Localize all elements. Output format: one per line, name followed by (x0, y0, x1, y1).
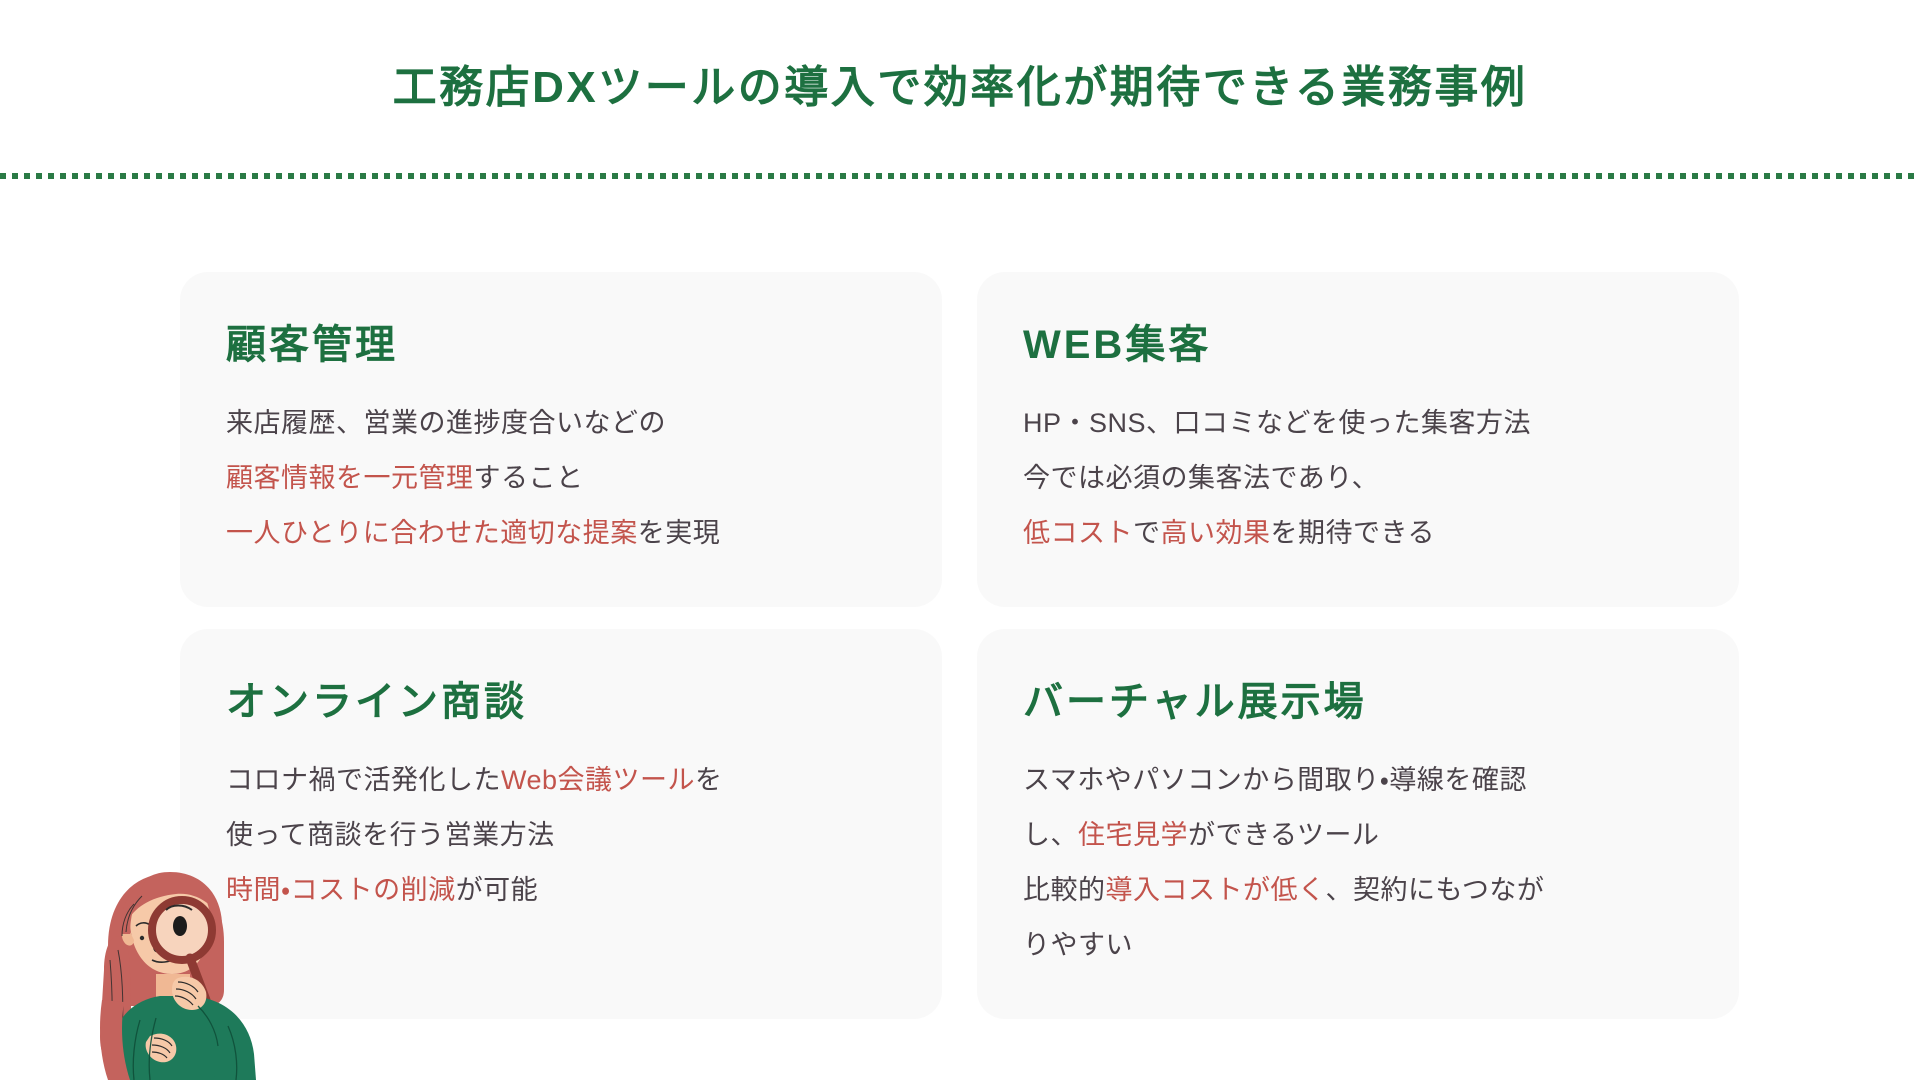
sweater-arm-left (126, 1034, 152, 1080)
text-segment: 来店履歴、営業の進捗度合いなどの (226, 408, 666, 438)
card-body: 来店履歴、営業の進捗度合いなどの 顧客情報を一元管理すること 一人ひとりに合わせ… (226, 396, 896, 561)
text-segment-highlight: 一人ひとりに合わせた適切な提案 (226, 518, 638, 548)
card-web-marketing[interactable]: WEB集客 HP・SNS、口コミなどを使った集客方法 今では必須の集客法であり、… (977, 272, 1739, 607)
text-segment: りやすい (1023, 930, 1133, 960)
text-segment: し、 (1023, 820, 1078, 850)
text-segment: を期待できる (1271, 518, 1435, 548)
hair-detail-lines (110, 896, 142, 1040)
text-segment: コロナ禍で活発化した (226, 765, 501, 795)
text-segment-highlight: 住宅見学 (1078, 820, 1188, 850)
card-body-line: りやすい (1023, 918, 1693, 973)
card-virtual-showroom[interactable]: バーチャル展示場 スマホやパソコンから間取り・導線を確認 し、住宅見学ができるツ… (977, 629, 1739, 1019)
text-segment-highlight: 導入コストが低く (1106, 875, 1326, 905)
card-body-line: スマホやパソコンから間取り・導線を確認 (1023, 753, 1693, 808)
hair-left-strand (100, 936, 132, 1066)
text-segment: を (695, 765, 723, 795)
card-body-line: 顧客情報を一元管理すること (226, 451, 896, 506)
card-title: WEB集客 (1023, 320, 1693, 370)
text-segment: HP・SNS、口コミなどを使った集客方法 (1023, 408, 1531, 438)
eyebrow-left (136, 923, 150, 926)
card-body: コロナ禍で活発化したWeb会議ツールを 使って商談を行う営業方法 時間・コストの… (226, 753, 896, 918)
card-body-line: 来店履歴、営業の進捗度合いなどの (226, 396, 896, 451)
card-body-line: し、住宅見学ができるツール (1023, 808, 1693, 863)
card-row-1: 顧客管理 来店履歴、営業の進捗度合いなどの 顧客情報を一元管理すること 一人ひと… (180, 272, 1742, 607)
text-segment: スマホやパソコンから間取り・導線を確認 (1023, 765, 1527, 795)
card-body-line: 低コストで高い効果を期待できる (1023, 506, 1693, 561)
card-body-line: コロナ禍で活発化したWeb会議ツールを (226, 753, 896, 808)
card-body-line: 今では必須の集客法であり、 (1023, 451, 1693, 506)
nose-shape (154, 942, 159, 952)
card-body: スマホやパソコンから間取り・導線を確認 し、住宅見学ができるツール 比較的導入コ… (1023, 753, 1693, 973)
text-segment: 、契約にもつなが (1326, 875, 1545, 905)
card-customer-management[interactable]: 顧客管理 来店履歴、営業の進捗度合いなどの 顧客情報を一元管理すること 一人ひと… (180, 272, 942, 607)
card-title: 顧客管理 (226, 320, 896, 370)
card-row-2: オンライン商談 コロナ禍で活発化したWeb会議ツールを 使って商談を行う営業方法… (180, 629, 1742, 1019)
text-segment: 今では必須の集客法であり、 (1023, 463, 1379, 493)
text-segment-highlight: Web会議ツール (501, 765, 695, 795)
text-segment: を実現 (638, 518, 721, 548)
hand-left (146, 1034, 177, 1063)
page-title: 工務店DXツールの導入で効率化が期待できる業務事例 (0, 62, 1920, 115)
text-segment: 比較的 (1023, 875, 1106, 905)
card-online-meeting[interactable]: オンライン商談 コロナ禍で活発化したWeb会議ツールを 使って商談を行う営業方法… (180, 629, 942, 1019)
text-segment-highlight: 時間・コストの削減 (226, 875, 456, 905)
mouth-shape (152, 958, 176, 962)
card-body-line: 比較的導入コストが低く、契約にもつなが (1023, 863, 1693, 918)
dotted-divider (0, 173, 1920, 179)
eye-left (140, 936, 144, 940)
text-segment: 使って商談を行う営業方法 (226, 820, 555, 850)
text-segment-highlight: 低コスト (1023, 518, 1133, 548)
card-body-line: 使って商談を行う営業方法 (226, 808, 896, 863)
card-title: バーチャル展示場 (1023, 677, 1693, 727)
text-segment: ができるツール (1188, 820, 1379, 850)
card-body-line: HP・SNS、口コミなどを使った集客方法 (1023, 396, 1693, 451)
hand-left-finger-lines (152, 1038, 172, 1058)
card-body-line: 時間・コストの削減が可能 (226, 863, 896, 918)
card-body: HP・SNS、口コミなどを使った集客方法 今では必須の集客法であり、 低コストで… (1023, 396, 1693, 561)
text-segment-highlight: 顧客情報を一元管理 (226, 463, 474, 493)
ear-shape (122, 928, 134, 946)
text-segment: が可能 (456, 875, 539, 905)
card-title: オンライン商談 (226, 677, 896, 727)
hair-side-piece (121, 880, 146, 934)
card-body-line: 一人ひとりに合わせた適切な提案を実現 (226, 506, 896, 561)
text-segment: すること (474, 463, 584, 493)
card-grid: 顧客管理 来店履歴、営業の進捗度合いなどの 顧客情報を一元管理すること 一人ひと… (180, 272, 1742, 1041)
text-segment: で (1133, 518, 1161, 548)
hair-front-strand (100, 1000, 130, 1080)
text-segment-highlight: 高い効果 (1161, 518, 1271, 548)
